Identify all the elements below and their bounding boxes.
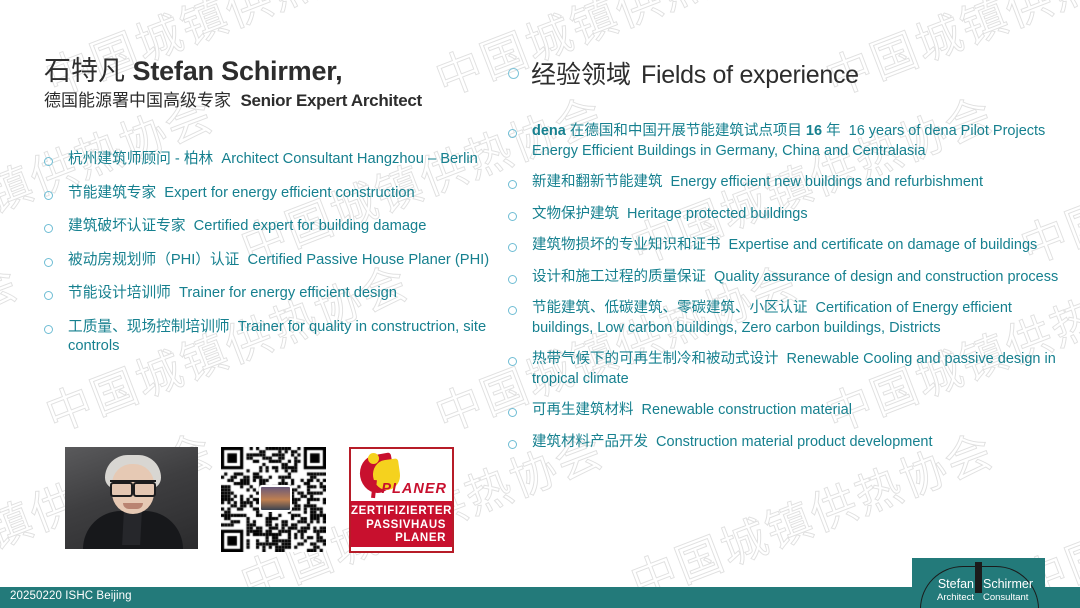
circle-outline-icon xyxy=(508,306,517,315)
list-item-label: 新建和翻新节能建筑 Energy efficient new buildings… xyxy=(532,173,1068,193)
phi-dot-icon xyxy=(368,453,379,464)
right-heading-en: Fields of experience xyxy=(641,61,859,89)
right-heading-text: 经验领域Fields of experience xyxy=(531,60,859,90)
brand-name-left: Stefan xyxy=(924,577,978,591)
list-item-label: 节能设计培训师 Trainer for energy efficient des… xyxy=(68,284,496,304)
list-item: 可再生建筑材料 Renewable construction material xyxy=(508,401,1068,421)
list-item-label: dena 在德国和中国开展节能建筑试点项目 16 年 16 years of d… xyxy=(532,122,1068,161)
list-item: 节能建筑专家 Expert for energy efficient const… xyxy=(44,184,496,204)
list-item-label: 节能建筑、低碳建筑、零碳建筑、小区认证 Certification of Ene… xyxy=(532,299,1068,338)
brand-name-right: Schirmer xyxy=(978,577,1033,591)
list-item-label: 杭州建筑师顾问 - 柏林 Architect Consultant Hangzh… xyxy=(68,150,496,170)
circle-outline-icon xyxy=(44,157,53,166)
portrait-mouth xyxy=(123,503,143,509)
right-heading-cn: 经验领域 xyxy=(531,61,631,89)
portrait-photo xyxy=(65,447,198,549)
phi-planer-label: PLANER xyxy=(381,481,447,497)
circle-outline-icon xyxy=(44,224,53,233)
qr-center-image xyxy=(259,485,292,512)
list-item: 节能设计培训师 Trainer for energy efficient des… xyxy=(44,284,496,304)
passivhaus-planer-logo: PLANER ZERTIFIZIERTER PASSIVHAUS PLANER xyxy=(349,447,454,553)
footer-text: 20250220 ISHC Beijing xyxy=(10,590,132,602)
list-item: 热带气候下的可再生制冷和被动式设计 Renewable Cooling and … xyxy=(508,350,1068,389)
glasses-icon xyxy=(110,480,156,494)
left-bullet-list: 杭州建筑师顾问 - 柏林 Architect Consultant Hangzh… xyxy=(44,150,496,371)
list-item: dena 在德国和中国开展节能建筑试点项目 16 年 16 years of d… xyxy=(508,122,1068,161)
subtitle-cn: 德国能源署中国高级专家 xyxy=(44,91,231,110)
circle-outline-icon xyxy=(508,357,517,366)
circle-outline-icon xyxy=(508,129,517,138)
brand-sub-right: Consultant xyxy=(978,592,1033,603)
circle-outline-icon xyxy=(44,291,53,300)
circle-outline-icon xyxy=(508,180,517,189)
list-item: 工质量、现场控制培训师 Trainer for quality in const… xyxy=(44,318,496,357)
brand-logo-subtitles: Architect Consultant xyxy=(912,592,1045,603)
subtitle-en: Senior Expert Architect xyxy=(240,91,421,110)
phi-logo-bottom: ZERTIFIZIERTER PASSIVHAUS PLANER xyxy=(351,501,452,547)
brand-sub-left: Architect xyxy=(924,592,978,603)
list-item: 设计和施工过程的质量保证 Quality assurance of design… xyxy=(508,268,1068,288)
list-item: 新建和翻新节能建筑 Energy efficient new buildings… xyxy=(508,173,1068,193)
phi-line-2: PASSIVHAUS xyxy=(351,519,446,533)
list-item: 杭州建筑师顾问 - 柏林 Architect Consultant Hangzh… xyxy=(44,150,496,170)
list-item: 文物保护建筑 Heritage protected buildings xyxy=(508,205,1068,225)
circle-outline-icon xyxy=(44,191,53,200)
slide-content: 石特凡 Stefan Schirmer, 德国能源署中国高级专家 Senior … xyxy=(0,0,1080,608)
circle-outline-icon xyxy=(508,408,517,417)
list-item-label: 被动房规划师（PHI）认证 Certified Passive House Pl… xyxy=(68,251,496,271)
list-item: 节能建筑、低碳建筑、零碳建筑、小区认证 Certification of Ene… xyxy=(508,299,1068,338)
phi-line-3: PLANER xyxy=(351,532,446,546)
circle-outline-icon xyxy=(508,243,517,252)
circle-outline-icon xyxy=(508,275,517,284)
title-en: Stefan Schirmer, xyxy=(133,56,343,86)
list-item-label: 工质量、现场控制培训师 Trainer for quality in const… xyxy=(68,318,496,357)
title-line-primary: 石特凡 Stefan Schirmer, xyxy=(44,56,514,87)
qr-code[interactable] xyxy=(221,447,326,552)
fields-of-experience-heading: 经验领域Fields of experience xyxy=(508,60,1068,90)
list-item-label: 设计和施工过程的质量保证 Quality assurance of design… xyxy=(532,268,1068,288)
brand-logo: Stefan Schirmer Architect Consultant xyxy=(912,558,1045,608)
title-cn: 石特凡 xyxy=(44,56,125,86)
phi-logo-top: PLANER xyxy=(351,449,452,501)
right-bullet-list: dena 在德国和中国开展节能建筑试点项目 16 年 16 years of d… xyxy=(508,122,1068,464)
phi-line-1: ZERTIFIZIERTER xyxy=(351,505,446,519)
list-item-label: 热带气候下的可再生制冷和被动式设计 Renewable Cooling and … xyxy=(532,350,1068,389)
circle-outline-icon xyxy=(508,212,517,221)
list-item-label: 建筑破坏认证专家 Certified expert for building d… xyxy=(68,217,496,237)
page-title: 石特凡 Stefan Schirmer, 德国能源署中国高级专家 Senior … xyxy=(44,56,514,112)
list-item: 建筑材料产品开发 Construction material product d… xyxy=(508,433,1068,453)
circle-outline-icon xyxy=(508,440,517,449)
list-item: 建筑破坏认证专家 Certified expert for building d… xyxy=(44,217,496,237)
list-item: 被动房规划师（PHI）认证 Certified Passive House Pl… xyxy=(44,251,496,271)
list-item-label: 建筑物损坏的专业知识和证书 Expertise and certificate … xyxy=(532,236,1068,256)
circle-outline-icon xyxy=(44,325,53,334)
title-line-secondary: 德国能源署中国高级专家 Senior Expert Architect xyxy=(44,90,514,112)
circle-outline-icon xyxy=(508,68,519,79)
list-item-label: 可再生建筑材料 Renewable construction material xyxy=(532,401,1068,421)
portrait-collar xyxy=(122,511,142,545)
list-item-label: 节能建筑专家 Expert for energy efficient const… xyxy=(68,184,496,204)
brand-logo-names: Stefan Schirmer xyxy=(912,577,1045,591)
list-item: 建筑物损坏的专业知识和证书 Expertise and certificate … xyxy=(508,236,1068,256)
circle-outline-icon xyxy=(44,258,53,267)
image-row: PLANER ZERTIFIZIERTER PASSIVHAUS PLANER xyxy=(65,447,454,553)
slide-canvas: 中国城镇供热协会中国城镇供热协会中国城镇供热协会中国城镇供热协会中国城镇供热协会… xyxy=(0,0,1080,608)
list-item-label: 文物保护建筑 Heritage protected buildings xyxy=(532,205,1068,225)
list-item-label: 建筑材料产品开发 Construction material product d… xyxy=(532,433,1068,453)
